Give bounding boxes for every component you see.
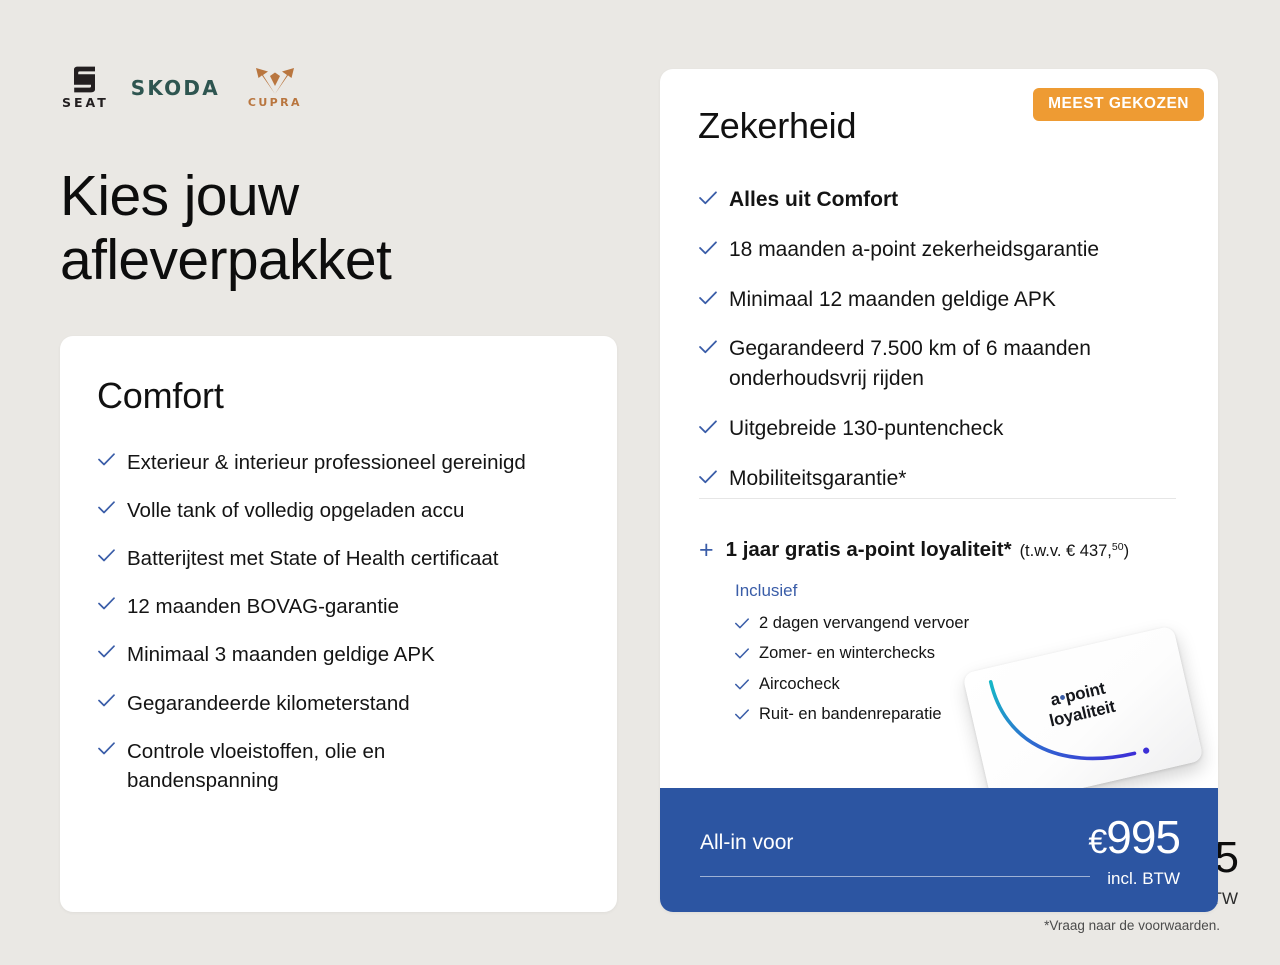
list-item: Gegarandeerd 7.500 km of 6 maanden onder… <box>699 334 1169 394</box>
page-title: Kies jouw afleverpakket <box>60 164 620 293</box>
check-icon <box>735 646 749 664</box>
check-icon <box>699 291 717 310</box>
check-icon <box>699 420 717 439</box>
comfort-feature-list: Exterieur & interieur professioneel gere… <box>98 448 538 814</box>
loyalty-item-label: Ruit- en bandenreparatie <box>759 704 942 725</box>
check-icon <box>699 470 717 489</box>
loyalty-item-label: 2 dagen vervangend vervoer <box>759 613 969 634</box>
feature-label: Minimaal 3 maanden geldige APK <box>127 640 435 669</box>
feature-label: Gegarandeerde kilometerstand <box>127 689 410 718</box>
loyalty-value-suffix: ) <box>1124 542 1130 560</box>
list-item: Minimaal 3 maanden geldige APK <box>98 640 538 669</box>
list-item: Alles uit Comfort <box>699 185 1169 215</box>
list-item: Controle vloeistoffen, olie en bandenspa… <box>98 737 538 795</box>
feature-label: Mobiliteitsgarantie* <box>729 464 906 494</box>
list-item: Volle tank of volledig opgeladen accu <box>98 496 538 525</box>
check-icon <box>98 742 115 760</box>
loyalty-item-label: Aircocheck <box>759 674 840 695</box>
list-item: Minimaal 12 maanden geldige APK <box>699 285 1169 315</box>
price-band-rule <box>700 876 1090 877</box>
section-divider <box>699 498 1176 499</box>
footnote: *Vraag naar de voorwaarden. <box>1044 918 1220 933</box>
loyalty-value-prefix: (t.w.v. € 437, <box>1020 542 1112 560</box>
cupra-logo-label: CUPRA <box>248 96 302 109</box>
zekerheid-feature-list: Alles uit Comfort 18 maanden a-point zek… <box>699 185 1169 514</box>
inclusief-label: Inclusief <box>735 581 1189 601</box>
check-icon <box>699 241 717 260</box>
check-icon <box>98 694 115 712</box>
seat-logo-icon <box>70 66 100 93</box>
feature-label: Volle tank of volledig opgeladen accu <box>127 496 464 525</box>
zekerheid-price-block: €995 incl. BTW <box>1088 814 1180 889</box>
loyalty-header-text: 1 jaar gratis a-point loyaliteit*(t.w.v.… <box>726 538 1129 562</box>
zekerheid-price-label: All-in voor <box>700 831 793 855</box>
loyalty-value: (t.w.v. € 437,50) <box>1020 542 1130 560</box>
cupra-logo-icon <box>255 67 295 95</box>
feature-label: Alles uit Comfort <box>729 185 898 215</box>
list-item: Exterieur & interieur professioneel gere… <box>98 448 538 477</box>
zekerheid-price-note: incl. BTW <box>1088 869 1180 889</box>
zekerheid-title: Zekerheid <box>698 105 856 147</box>
check-icon <box>699 340 717 359</box>
check-icon <box>735 707 749 725</box>
check-icon <box>98 501 115 519</box>
comfort-title: Comfort <box>97 375 224 417</box>
check-icon <box>98 597 115 615</box>
loyalty-value-cents: 50 <box>1112 541 1124 553</box>
zekerheid-price-band: All-in voor €995 incl. BTW <box>660 788 1218 912</box>
feature-label: 18 maanden a-point zekerheidsgarantie <box>729 235 1099 265</box>
feature-label: 12 maanden BOVAG-garantie <box>127 592 399 621</box>
feature-label: Gegarandeerd 7.500 km of 6 maanden onder… <box>729 334 1169 394</box>
feature-label: Controle vloeistoffen, olie en bandenspa… <box>127 737 538 795</box>
plus-icon: + <box>699 538 714 563</box>
feature-label: Exterieur & interieur professioneel gere… <box>127 448 526 477</box>
currency-symbol: € <box>1088 823 1106 861</box>
skoda-logo: SKODA <box>131 76 220 100</box>
list-item: 12 maanden BOVAG-garantie <box>98 592 538 621</box>
list-item: Gegarandeerde kilometerstand <box>98 689 538 718</box>
zekerheid-price-amount: 995 <box>1106 811 1180 863</box>
list-item: Batterijtest met State of Health certifi… <box>98 544 538 573</box>
check-icon <box>98 645 115 663</box>
list-item: 2 dagen vervangend vervoer <box>735 613 1189 634</box>
list-item: 18 maanden a-point zekerheidsgarantie <box>699 235 1169 265</box>
check-icon <box>735 677 749 695</box>
cupra-logo: CUPRA <box>248 67 302 109</box>
feature-label: Minimaal 12 maanden geldige APK <box>729 285 1056 315</box>
seat-logo: SEAT <box>62 66 109 110</box>
feature-label: Batterijtest met State of Health certifi… <box>127 544 498 573</box>
status-badge: MEEST GEKOZEN <box>1033 88 1204 121</box>
list-item: Uitgebreide 130-puntencheck <box>699 414 1169 444</box>
delivery-package-page: SEAT SKODA CUPRA Kies jouw afleverpakket… <box>0 0 1280 965</box>
zekerheid-price: €995 <box>1088 814 1180 860</box>
loyalty-item-label: Zomer- en winterchecks <box>759 643 935 664</box>
skoda-wordmark-icon: SKODA <box>131 76 220 100</box>
check-icon <box>98 549 115 567</box>
loyalty-title: 1 jaar gratis a-point loyaliteit* <box>726 538 1012 561</box>
list-item: Mobiliteitsgarantie* <box>699 464 1169 494</box>
check-icon <box>735 616 749 634</box>
check-icon <box>699 191 717 210</box>
feature-label: Uitgebreide 130-puntencheck <box>729 414 1003 444</box>
loyalty-header: + 1 jaar gratis a-point loyaliteit*(t.w.… <box>699 536 1189 562</box>
check-icon <box>98 453 115 471</box>
seat-logo-label: SEAT <box>62 95 109 110</box>
brand-logo-bar: SEAT SKODA CUPRA <box>62 68 302 108</box>
